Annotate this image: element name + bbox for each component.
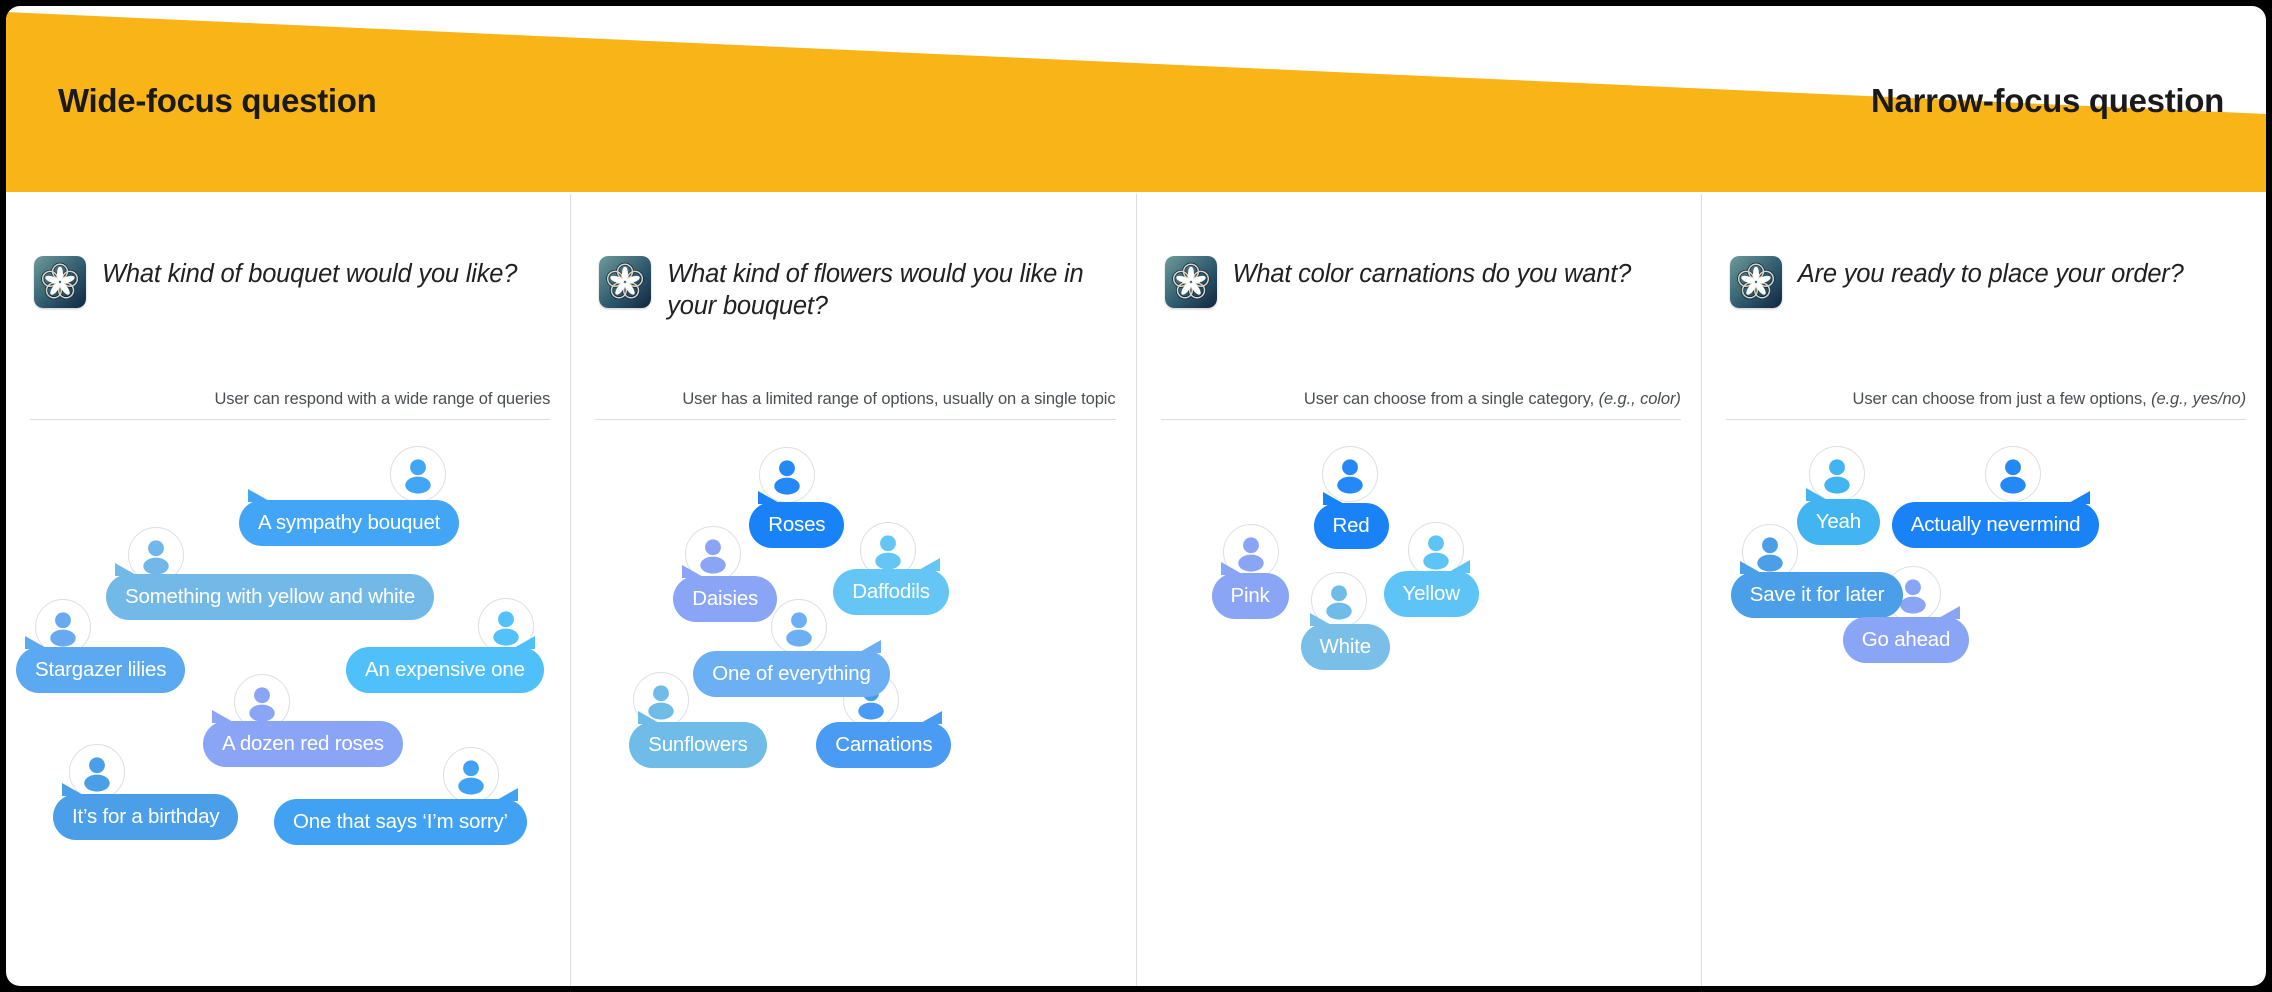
user-reply-chip[interactable]: Sunflowers	[629, 722, 766, 768]
caption-divider	[1726, 419, 2246, 420]
caption-divider	[595, 419, 1115, 420]
flower-rosette-agent-icon	[1165, 256, 1217, 308]
caption-divider	[1161, 419, 1681, 420]
flower-rosette-agent-icon	[599, 256, 651, 308]
user-reply-chip-label: Daffodils	[852, 580, 930, 604]
user-reply-chip-label: Something with yellow and white	[125, 585, 415, 609]
user-avatar-icon	[391, 447, 445, 501]
caption-main-text: User has a limited range of options, usu…	[682, 390, 1115, 408]
focus-column-4: Are you ready to place your order?User c…	[1702, 194, 2266, 986]
user-reply-chip-label: Go ahead	[1862, 628, 1950, 652]
caption-main-text: User can respond with a wide range of qu…	[214, 390, 550, 408]
user-reply-chip[interactable]: Stargazer lilies	[16, 647, 185, 693]
flower-rosette-agent-icon	[34, 256, 86, 308]
user-reply-chip-label: Daisies	[692, 587, 758, 611]
focus-column-1: What kind of bouquet would you like?User…	[6, 194, 571, 986]
column-caption-block: User can choose from a single category, …	[1161, 390, 1681, 420]
user-reply-chip[interactable]: One of everything	[693, 651, 889, 697]
caption-main-text: User can choose from a single category,	[1304, 390, 1599, 408]
user-reply-chip-label: It’s for a birthday	[72, 805, 219, 829]
user-avatar	[390, 446, 446, 502]
user-reply-chip-label: White	[1320, 635, 1371, 659]
user-reply-chip[interactable]: Pink	[1212, 573, 1289, 619]
user-reply-chip[interactable]: A sympathy bouquet	[239, 500, 459, 546]
user-reply-chip[interactable]: Daffodils	[833, 569, 949, 615]
banner-right-label: Narrow-focus question	[1871, 82, 2224, 120]
user-reply-chip-label: Yellow	[1403, 582, 1460, 606]
diagram-card: Wide-focus question Narrow-focus questio…	[6, 6, 2266, 986]
user-reply-chip[interactable]: Save it for later	[1731, 572, 1903, 618]
flower-rosette-agent-icon	[1165, 256, 1217, 308]
user-reply-cluster: RosesDaisiesDaffodilsOne of everythingSu…	[571, 444, 1135, 924]
user-reply-chip-label: Actually nevermind	[1911, 513, 2081, 537]
focus-column-2: What kind of flowers would you like in y…	[571, 194, 1136, 986]
caption-example-text: (e.g., color)	[1599, 390, 1681, 408]
column-caption-block: User has a limited range of options, usu…	[595, 390, 1115, 420]
user-reply-chip[interactable]: Carnations	[816, 722, 951, 768]
user-reply-cluster: A sympathy bouquetSomething with yellow …	[6, 444, 570, 924]
column-header: What kind of flowers would you like in y…	[599, 254, 1111, 322]
user-reply-chip[interactable]: It’s for a birthday	[53, 794, 238, 840]
agent-question: What kind of flowers would you like in y…	[667, 254, 1111, 322]
user-avatar-icon	[772, 600, 826, 654]
user-reply-chip-label: Save it for later	[1750, 583, 1884, 607]
user-avatar	[443, 747, 499, 803]
flower-rosette-agent-icon	[34, 256, 86, 308]
user-reply-chip[interactable]: Something with yellow and white	[106, 574, 434, 620]
column-caption: User can choose from just a few options,…	[1726, 390, 2246, 419]
user-reply-chip-label: Stargazer lilies	[35, 658, 166, 682]
user-reply-chip-label: One of everything	[712, 662, 870, 686]
user-avatar	[1985, 446, 2041, 502]
caption-divider	[30, 419, 550, 420]
agent-question: Are you ready to place your order?	[1798, 254, 2184, 290]
user-reply-chip-label: Carnations	[835, 733, 932, 757]
user-reply-chip[interactable]: Red	[1314, 503, 1389, 549]
user-reply-chip[interactable]: Daisies	[673, 576, 777, 622]
column-caption: User can choose from a single category, …	[1161, 390, 1681, 419]
user-reply-chip-label: A dozen red roses	[222, 732, 384, 756]
user-reply-chip-label: Yeah	[1816, 510, 1861, 534]
agent-question: What kind of bouquet would you like?	[102, 254, 517, 290]
focus-spectrum-banner: Wide-focus question Narrow-focus questio…	[6, 6, 2266, 194]
user-reply-chip[interactable]: Go ahead	[1843, 617, 1969, 663]
user-reply-chip-label: A sympathy bouquet	[258, 511, 440, 535]
agent-question: What color carnations do you want?	[1233, 254, 1632, 290]
column-header: What kind of bouquet would you like?	[34, 254, 546, 308]
user-reply-chip[interactable]: Yeah	[1797, 499, 1880, 545]
user-reply-chip-label: Sunflowers	[648, 733, 747, 757]
user-reply-cluster: YeahActually nevermindSave it for laterG…	[1702, 444, 2266, 924]
user-reply-chip[interactable]: One that says ‘I’m sorry’	[274, 799, 527, 845]
column-caption-block: User can choose from just a few options,…	[1726, 390, 2246, 420]
column-header: Are you ready to place your order?	[1730, 254, 2242, 308]
user-avatar	[771, 599, 827, 655]
user-reply-chip[interactable]: An expensive one	[346, 647, 544, 693]
user-reply-chip-label: Roses	[768, 513, 825, 537]
flower-rosette-agent-icon	[1730, 256, 1782, 308]
flower-rosette-agent-icon	[599, 256, 651, 308]
banner-left-label: Wide-focus question	[58, 82, 377, 120]
columns-container: What kind of bouquet would you like?User…	[6, 194, 2266, 986]
column-caption: User has a limited range of options, usu…	[595, 390, 1115, 419]
column-header: What color carnations do you want?	[1165, 254, 1677, 308]
user-reply-chip[interactable]: Roses	[749, 502, 844, 548]
user-reply-chip-label: An expensive one	[365, 658, 525, 682]
caption-example-text: (e.g., yes/no)	[2151, 390, 2246, 408]
user-avatar-icon	[1986, 447, 2040, 501]
focus-column-3: What color carnations do you want?User c…	[1137, 194, 1702, 986]
user-reply-chip[interactable]: A dozen red roses	[203, 721, 403, 767]
user-reply-chip[interactable]: Actually nevermind	[1892, 502, 2100, 548]
user-avatar-icon	[444, 748, 498, 802]
column-caption: User can respond with a wide range of qu…	[30, 390, 550, 419]
user-reply-chip[interactable]: White	[1301, 624, 1390, 670]
user-reply-chip[interactable]: Yellow	[1384, 571, 1479, 617]
user-reply-chip-label: Pink	[1231, 584, 1270, 608]
flower-rosette-agent-icon	[1730, 256, 1782, 308]
user-reply-cluster: RedPinkYellowWhite	[1137, 444, 1701, 924]
column-caption-block: User can respond with a wide range of qu…	[30, 390, 550, 420]
caption-main-text: User can choose from just a few options,	[1853, 390, 2152, 408]
user-reply-chip-label: One that says ‘I’m sorry’	[293, 810, 508, 834]
user-reply-chip-label: Red	[1333, 514, 1370, 538]
